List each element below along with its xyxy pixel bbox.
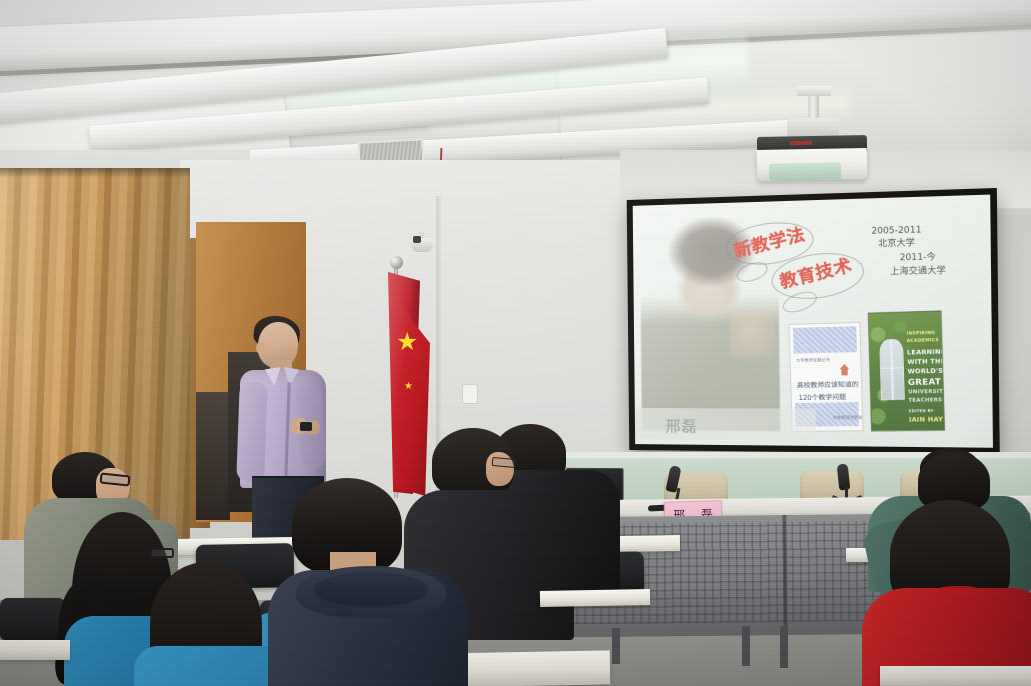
slide-affiliation-2: 2011-今 上海交通大学 xyxy=(890,251,946,278)
slide-photo-hand xyxy=(730,309,776,358)
presenter-arm-left xyxy=(236,382,267,483)
curtain-rod-shadow xyxy=(0,168,190,178)
book-en-editor-name: IAIN HAY xyxy=(909,416,943,424)
audience-teal-glasses-icon xyxy=(150,548,174,558)
slide-affiliation-1: 2005-2011 北京大学 xyxy=(871,224,921,251)
projector-lens-icon xyxy=(769,162,841,180)
projector-brand-label xyxy=(790,141,812,145)
flag-finial xyxy=(390,256,403,269)
audience-hoodie-hood-inner xyxy=(314,572,428,606)
dark-cabinet-secondary xyxy=(196,392,230,520)
book-en-title-6: TEACHERS xyxy=(908,397,942,404)
slide-affiliation-2-institution: 上海交通大学 xyxy=(890,264,946,278)
student-desk-5 xyxy=(0,640,70,660)
book-en-title-2: WITH THE xyxy=(907,358,945,366)
camera-lens-icon xyxy=(413,236,421,243)
book-cn-pattern-top xyxy=(792,326,857,353)
presenter-ear xyxy=(256,342,265,354)
student-chair-2[interactable] xyxy=(0,598,66,640)
book-en-title-5: UNIVERSITY xyxy=(908,389,945,396)
book-en-title-3: WORLD'S xyxy=(907,368,943,376)
student-desk-7 xyxy=(880,666,1031,686)
projector-mount-pole xyxy=(808,96,819,120)
projector-ceiling-plate xyxy=(797,86,831,96)
book-cn-title-line-2: 120个教学问题 xyxy=(798,391,846,402)
slide-surface: 新教学法 教育技术 2005-2011 北京大学 2011-今 上海交通大学 大… xyxy=(633,195,993,448)
wall-outlet[interactable] xyxy=(462,384,478,404)
book-cn-publisher: 华东师范大学出版社 xyxy=(832,415,863,422)
slide-name-band xyxy=(635,408,816,441)
book-cn-title-line-1: 高校教师应该知道的 xyxy=(797,379,859,390)
student-desk-3 xyxy=(540,589,650,607)
podium-leg-1 xyxy=(612,628,620,664)
slide-affiliation-1-institution: 北京大学 xyxy=(871,237,921,251)
slide-book-english: INSPIRING ACADEMICS LEARNING WITH THE WO… xyxy=(868,311,945,432)
projection-screen[interactable]: 新教学法 教育技术 2005-2011 北京大学 2011-今 上海交通大学 大… xyxy=(627,188,1000,454)
podium-leg-3 xyxy=(780,626,788,668)
lecture-room-photo: ★ ★ 新教学法 教育技术 2005-2011 北京大学 2011-今 上海交通… xyxy=(0,0,1031,686)
book-en-title-4: GREAT xyxy=(908,377,941,387)
book-cn-subtitle: 大学教师发展丛书 xyxy=(796,357,830,364)
book-en-title-1: LEARNING xyxy=(907,349,945,357)
podium-leg-2 xyxy=(742,626,750,666)
presenter-remote-clicker[interactable] xyxy=(300,422,312,431)
slide-speaker-name: 邢磊 xyxy=(665,415,697,436)
book-cn-pagoda-icon xyxy=(839,364,849,376)
slide-affiliation-2-years: 2011-今 xyxy=(890,251,946,265)
slide-affiliation-1-years: 2005-2011 xyxy=(871,224,921,238)
